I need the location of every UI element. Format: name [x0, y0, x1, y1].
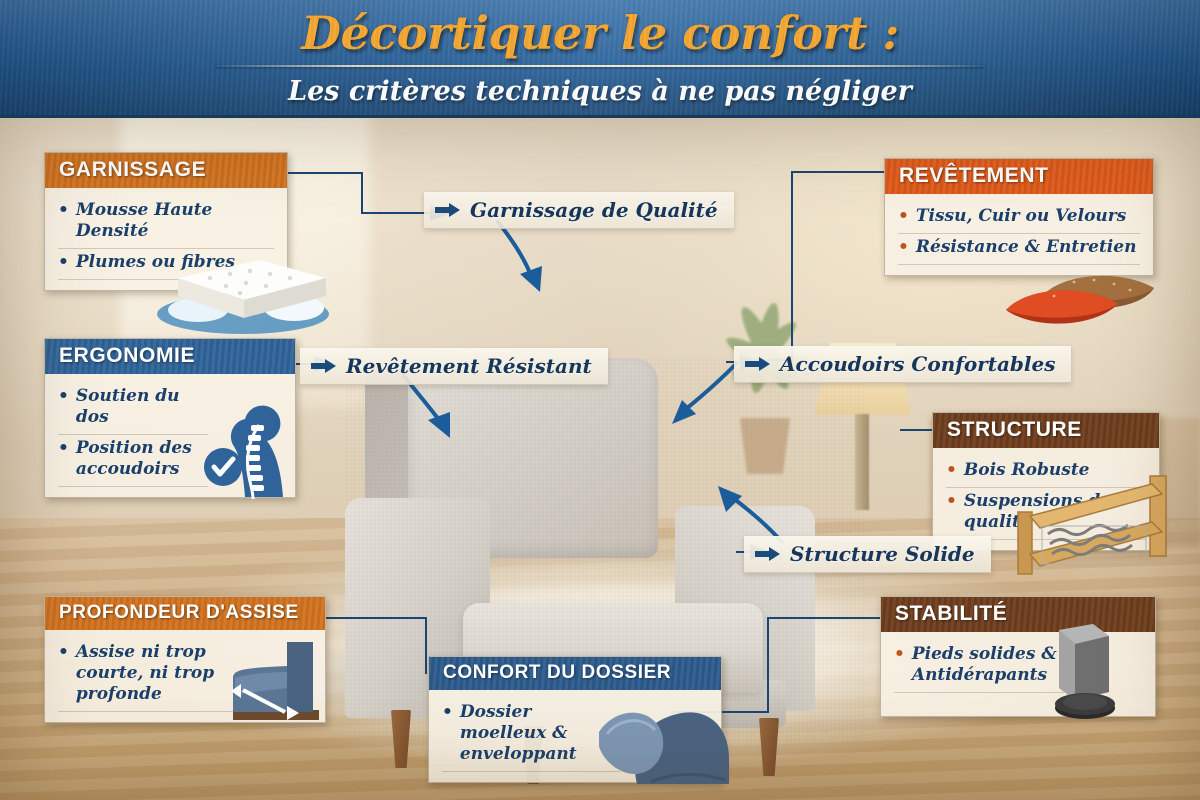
list-item-label: Soutien du dos — [76, 386, 208, 428]
arrow-right-icon — [745, 356, 771, 372]
bullet-dot-icon: • — [894, 644, 905, 664]
blue-backrest-cushion-icon — [591, 698, 731, 794]
bullet-dot-icon: • — [58, 386, 69, 406]
callout-garnissage-qualite[interactable]: Garnissage de Qualité — [424, 192, 734, 229]
arrow-right-icon — [755, 546, 781, 562]
list-item: • Suspensions de qualité — [946, 488, 1146, 540]
list-item-label: Tissu, Cuir ou Velours — [916, 206, 1126, 227]
pointer-arrow-accoudoirs — [656, 358, 746, 438]
bullet-dot-icon: • — [946, 491, 957, 511]
list-item: • Résistance & Entretien — [898, 234, 1140, 265]
pointer-arrow-garnissage — [488, 218, 578, 298]
bullet-dot-icon: • — [58, 200, 69, 220]
panel-title: PROFONDEUR D'ASSISE — [45, 597, 325, 630]
panel-title: ERGONOMIE — [45, 339, 295, 374]
furniture-foot-icon — [1035, 622, 1151, 732]
callout-label: Revêtement Résistant — [346, 354, 592, 378]
bullet-dot-icon: • — [58, 438, 69, 458]
list-item-label: Position des accoudoirs — [76, 438, 208, 480]
panel-body: • Tissu, Cuir ou Velours • Résistance & … — [885, 194, 1153, 275]
bullet-dot-icon: • — [898, 237, 909, 257]
panel-confort-dossier[interactable]: CONFORT DU DOSSIER • Dossier moelleux & … — [428, 656, 722, 783]
panel-body: • Bois Robuste • Suspensions de qualité — [933, 448, 1159, 550]
callout-label: Garnissage de Qualité — [470, 198, 718, 222]
list-item: • Soutien du dos — [58, 383, 208, 435]
panel-body: • Pieds solides & Antidérapants — [881, 632, 1155, 716]
panel-body: • Mousse Haute Densité • Plumes ou fibre… — [45, 188, 287, 290]
panel-title: REVÊTEMENT — [885, 159, 1153, 194]
bullet-dot-icon: • — [58, 642, 69, 662]
page-subtitle: Les critères techniques à ne pas néglige… — [0, 76, 1200, 107]
list-item: • Bois Robuste — [946, 457, 1146, 488]
list-item-label: Mousse Haute Densité — [76, 200, 274, 242]
page-title: Décortiquer le confort : — [0, 6, 1200, 60]
callout-revetement-resistant[interactable]: Revêtement Résistant — [300, 348, 608, 385]
arrow-right-icon — [435, 202, 461, 218]
callout-accoudoirs-confortables[interactable]: Accoudoirs Confortables — [734, 346, 1071, 383]
panel-structure[interactable]: STRUCTURE • Bois Robuste • Suspensions d… — [932, 412, 1160, 551]
list-item: • Plumes ou fibres — [58, 249, 274, 280]
arrow-right-icon — [311, 358, 337, 374]
panel-title: CONFORT DU DOSSIER — [429, 657, 721, 690]
list-item: • Mousse Haute Densité — [58, 197, 274, 249]
panel-body: • Dossier moelleux & enveloppant — [429, 690, 721, 782]
title-divider — [215, 65, 985, 67]
infographic-canvas: Décortiquer le confort : Les critères te… — [0, 0, 1200, 800]
bullet-dot-icon: • — [442, 702, 453, 722]
list-item-label: Plumes ou fibres — [76, 252, 235, 273]
callout-label: Structure Solide — [790, 542, 975, 566]
list-item-label: Suspensions de qualité — [964, 491, 1146, 533]
header-banner: Décortiquer le confort : Les critères te… — [0, 0, 1200, 118]
callout-label: Accoudoirs Confortables — [780, 352, 1055, 376]
panel-profondeur-assise[interactable]: PROFONDEUR D'ASSISE • Assise ni trop cou… — [44, 596, 326, 723]
list-item-label: Bois Robuste — [964, 460, 1090, 481]
panel-title: GARNISSAGE — [45, 153, 287, 188]
bullet-dot-icon: • — [946, 460, 957, 480]
list-item: • Assise ni trop courte, ni trop profond… — [58, 639, 236, 712]
panel-stabilite[interactable]: STABILITÉ • Pieds solides & Antidérapant… — [880, 596, 1156, 717]
list-item-label: Résistance & Entretien — [916, 237, 1137, 258]
panel-body: • Assise ni trop courte, ni trop profond… — [45, 630, 325, 722]
callout-structure-solide[interactable]: Structure Solide — [744, 536, 991, 573]
list-item: • Position des accoudoirs — [58, 435, 208, 487]
list-item-label: Assise ni trop courte, ni trop profonde — [76, 642, 236, 705]
bullet-dot-icon: • — [898, 206, 909, 226]
blue-armchair-depth-icon — [215, 632, 331, 732]
panel-body: • Soutien du dos • Position des accoudoi… — [45, 374, 295, 497]
panel-revetement[interactable]: REVÊTEMENT • Tissu, Cuir ou Velours • Ré… — [884, 158, 1154, 276]
panel-garnissage[interactable]: GARNISSAGE • Mousse Haute Densité • Plum… — [44, 152, 288, 291]
list-item: • Tissu, Cuir ou Velours — [898, 203, 1140, 234]
bullet-dot-icon: • — [58, 252, 69, 272]
spine-posture-icon — [201, 405, 297, 501]
panel-title: STRUCTURE — [933, 413, 1159, 448]
panel-ergonomie[interactable]: ERGONOMIE • Soutien du dos • Position de… — [44, 338, 296, 498]
